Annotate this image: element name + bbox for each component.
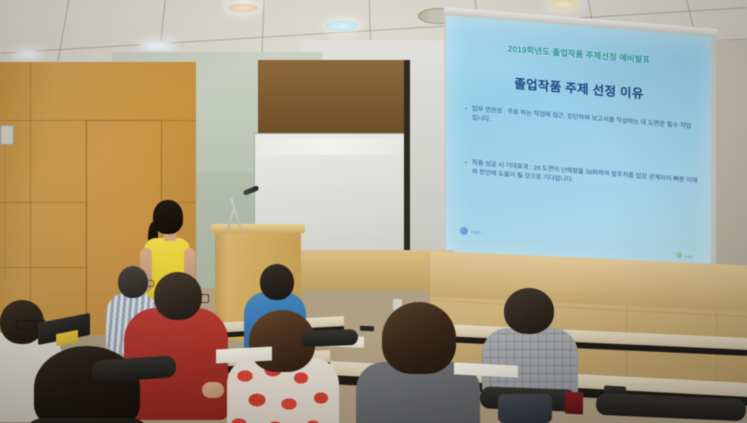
- projection-screen: 2019학년도 졸업작품 주제선정 예비발표 졸업작품 주제 선정 이유 ▪ 업…: [446, 15, 711, 276]
- glasses-icon: [141, 280, 154, 287]
- small-box-object: [565, 392, 583, 415]
- attendee-torso: [22, 418, 152, 423]
- bullet-marker-icon: ▪: [465, 160, 467, 167]
- logo-circle-icon: [460, 226, 468, 235]
- lecture-hall-photo: 2019학년도 졸업작품 주제선정 예비발표 졸업작품 주제 선정 이유 ▪ 업…: [0, 0, 747, 423]
- glasses-icon: [193, 294, 209, 303]
- wall-valance: [258, 60, 410, 138]
- ceiling-light: [140, 41, 174, 51]
- attendee-hand: [202, 382, 224, 398]
- bullet-marker-icon: ▪: [465, 106, 467, 113]
- attendee-head: [382, 302, 456, 374]
- slide-bullet-1: ▪ 업무 연관성 : 주로 하는 작업에 접근, 진단하며 보고서를 작성하는 …: [472, 105, 694, 141]
- attendee-head: [260, 264, 294, 300]
- presenter-hair: [153, 200, 183, 234]
- board-edge: [404, 60, 410, 256]
- attendee-head: [34, 346, 140, 423]
- ceiling-light: [548, 0, 580, 9]
- slide-logo: logo: [460, 226, 481, 236]
- slide-bullet-2: ▪ 작품 성공 시 기대효과 : 2d 도면의 난해함을 3d화하여 발주처를 …: [472, 159, 698, 195]
- whiteboard-glare: [258, 139, 400, 155]
- slide-logo-text: logo: [471, 229, 481, 235]
- bag: [498, 394, 552, 423]
- paper-sheet: [216, 347, 272, 364]
- slide-mark-text: mark: [684, 253, 693, 259]
- ceiling-light: [228, 4, 258, 12]
- mark-circle-icon: [676, 252, 682, 258]
- slide-bullet-1-text: 업무 연관성 : 주로 하는 작업에 접근, 진단하며 보고서를 작성하는 데 …: [472, 105, 691, 130]
- ceiling-light: [326, 21, 358, 31]
- ceiling-light: [14, 50, 42, 59]
- chair-back: [300, 329, 359, 347]
- slide-title: 졸업작품 주제 선정 이유: [454, 68, 704, 107]
- wall-box: [0, 125, 14, 145]
- slide-corner-mark: mark: [676, 252, 693, 259]
- slide-header: 2019학년도 졸업작품 주제선정 예비발표: [464, 39, 694, 70]
- attendee-head: [504, 288, 554, 334]
- smartphone[interactable]: [360, 326, 374, 332]
- slide-bullet-2-text: 작품 성공 시 기대효과 : 2d 도면의 난해함을 3d화하여 발주처를 입장…: [472, 159, 698, 184]
- podium-top: [211, 224, 305, 233]
- wall-conduit: [4, 128, 6, 278]
